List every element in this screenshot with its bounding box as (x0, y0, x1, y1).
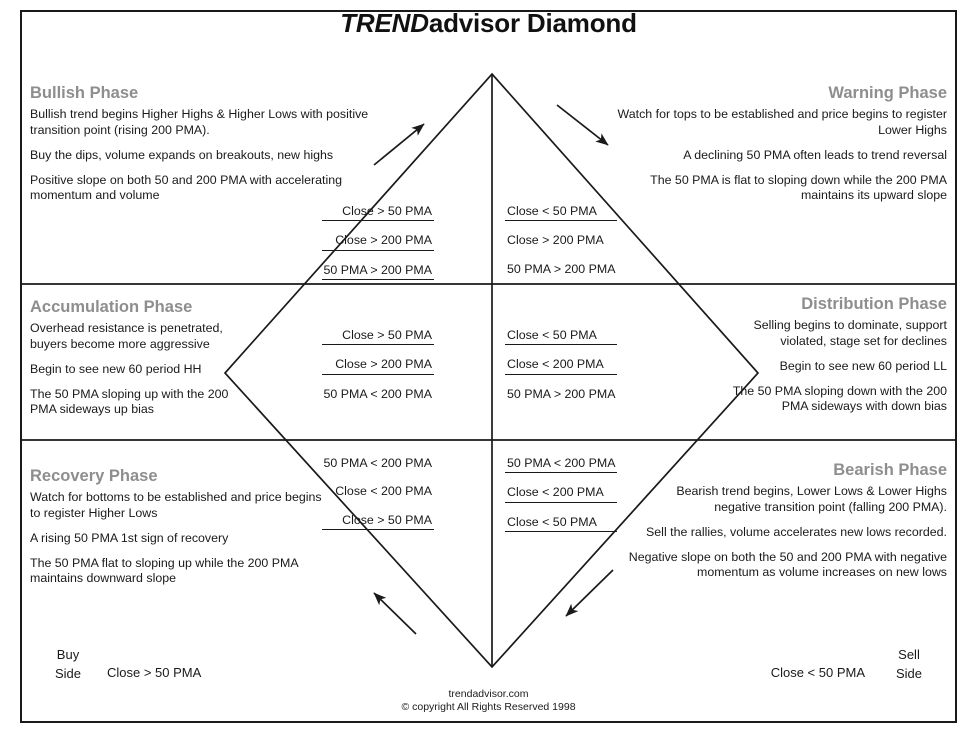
conditions-top-right: Close < 50 PMAClose > 200 PMA50 PMA > 20… (505, 203, 617, 278)
condition-item: Close < 200 PMA (322, 483, 434, 500)
footer-copyright: © copyright All Rights Reserved 1998 (0, 701, 977, 714)
phase-recovery-line-2: A rising 50 PMA 1st sign of recovery (30, 531, 330, 547)
footer-site: trendadvisor.com (0, 688, 977, 701)
condition-item: Close > 50 PMA (322, 327, 434, 345)
sell-side-condition: Close < 50 PMA (771, 665, 865, 680)
phase-bearish-line-2: Sell the rallies, volume accelerates new… (627, 525, 947, 541)
title-brand-trend: TREND (340, 8, 429, 38)
phase-warning: Warning Phase Watch for tops to be estab… (617, 84, 947, 204)
sell-side-label: Sell Side (881, 646, 937, 684)
conditions-middle-left: Close > 50 PMAClose > 200 PMA50 PMA < 20… (322, 327, 434, 403)
phase-recovery: Recovery Phase Watch for bottoms to be e… (30, 467, 330, 587)
phase-distribution-line-3: The 50 PMA sloping down with the 200 PMA… (707, 384, 947, 416)
phase-bearish-line-3: Negative slope on both the 50 and 200 PM… (627, 550, 947, 582)
buy-side-condition: Close > 50 PMA (107, 665, 201, 680)
buy-side-label-line2: Side (40, 665, 96, 684)
phase-bullish-line-2: Buy the dips, volume expands on breakout… (30, 148, 380, 164)
phase-accumulation-heading: Accumulation Phase (30, 298, 235, 317)
phase-warning-heading: Warning Phase (617, 84, 947, 103)
condition-item: 50 PMA < 200 PMA (322, 455, 434, 472)
conditions-middle-right: Close < 50 PMAClose < 200 PMA50 PMA > 20… (505, 327, 617, 403)
phase-distribution-line-2: Begin to see new 60 period LL (707, 359, 947, 375)
buy-side-label-line1: Buy (40, 646, 96, 665)
phase-distribution-heading: Distribution Phase (707, 295, 947, 314)
condition-item: Close > 200 PMA (322, 232, 434, 250)
condition-item: Close < 50 PMA (505, 327, 617, 345)
phase-recovery-heading: Recovery Phase (30, 467, 330, 486)
phase-warning-line-3: The 50 PMA is flat to sloping down while… (617, 173, 947, 205)
sell-side-label-line1: Sell (881, 646, 937, 665)
condition-item: Close < 200 PMA (505, 484, 617, 502)
footer: trendadvisor.com © copyright All Rights … (0, 688, 977, 714)
condition-item: 50 PMA > 200 PMA (505, 261, 617, 278)
phase-bearish: Bearish Phase Bearish trend begins, Lowe… (627, 461, 947, 581)
condition-item: Close > 200 PMA (322, 356, 434, 374)
phase-accumulation: Accumulation Phase Overhead resistance i… (30, 298, 235, 418)
phase-distribution-line-1: Selling begins to dominate, support viol… (707, 318, 947, 350)
condition-item: Close < 50 PMA (505, 203, 617, 221)
page-title: TRENDadvisor Diamond (0, 8, 977, 39)
phase-bullish-heading: Bullish Phase (30, 84, 380, 103)
condition-item: Close < 50 PMA (505, 514, 617, 532)
condition-item: Close > 200 PMA (505, 232, 617, 249)
phase-accumulation-line-3: The 50 PMA sloping up with the 200 PMA s… (30, 387, 235, 419)
phase-recovery-line-1: Watch for bottoms to be established and … (30, 490, 330, 522)
condition-item: Close > 50 PMA (322, 203, 434, 221)
condition-item: 50 PMA < 200 PMA (505, 455, 617, 473)
condition-item: 50 PMA < 200 PMA (322, 386, 434, 403)
conditions-bottom-right: 50 PMA < 200 PMAClose < 200 PMAClose < 5… (505, 455, 617, 532)
condition-item: 50 PMA > 200 PMA (505, 386, 617, 403)
phase-bullish-line-1: Bullish trend begins Higher Highs & High… (30, 107, 380, 139)
phase-accumulation-line-2: Begin to see new 60 period HH (30, 362, 235, 378)
sell-side-label-line2: Side (881, 665, 937, 684)
phase-bullish-line-3: Positive slope on both 50 and 200 PMA wi… (30, 173, 380, 205)
condition-item: Close < 200 PMA (505, 356, 617, 374)
phase-warning-line-2: A declining 50 PMA often leads to trend … (617, 148, 947, 164)
phase-bullish: Bullish Phase Bullish trend begins Highe… (30, 84, 380, 204)
condition-item: Close > 50 PMA (322, 512, 434, 530)
title-brand-rest: advisor Diamond (429, 8, 637, 38)
conditions-bottom-left: 50 PMA < 200 PMAClose < 200 PMAClose > 5… (322, 455, 434, 530)
condition-item: 50 PMA > 200 PMA (322, 262, 434, 280)
phase-accumulation-line-1: Overhead resistance is penetrated, buyer… (30, 321, 235, 353)
phase-warning-line-1: Watch for tops to be established and pri… (617, 107, 947, 139)
conditions-top-left: Close > 50 PMAClose > 200 PMA50 PMA > 20… (322, 203, 434, 280)
phase-recovery-line-3: The 50 PMA flat to sloping up while the … (30, 556, 330, 588)
buy-side-label: Buy Side (40, 646, 96, 684)
phase-bearish-heading: Bearish Phase (627, 461, 947, 480)
phase-bearish-line-1: Bearish trend begins, Lower Lows & Lower… (627, 484, 947, 516)
phase-distribution: Distribution Phase Selling begins to dom… (707, 295, 947, 415)
